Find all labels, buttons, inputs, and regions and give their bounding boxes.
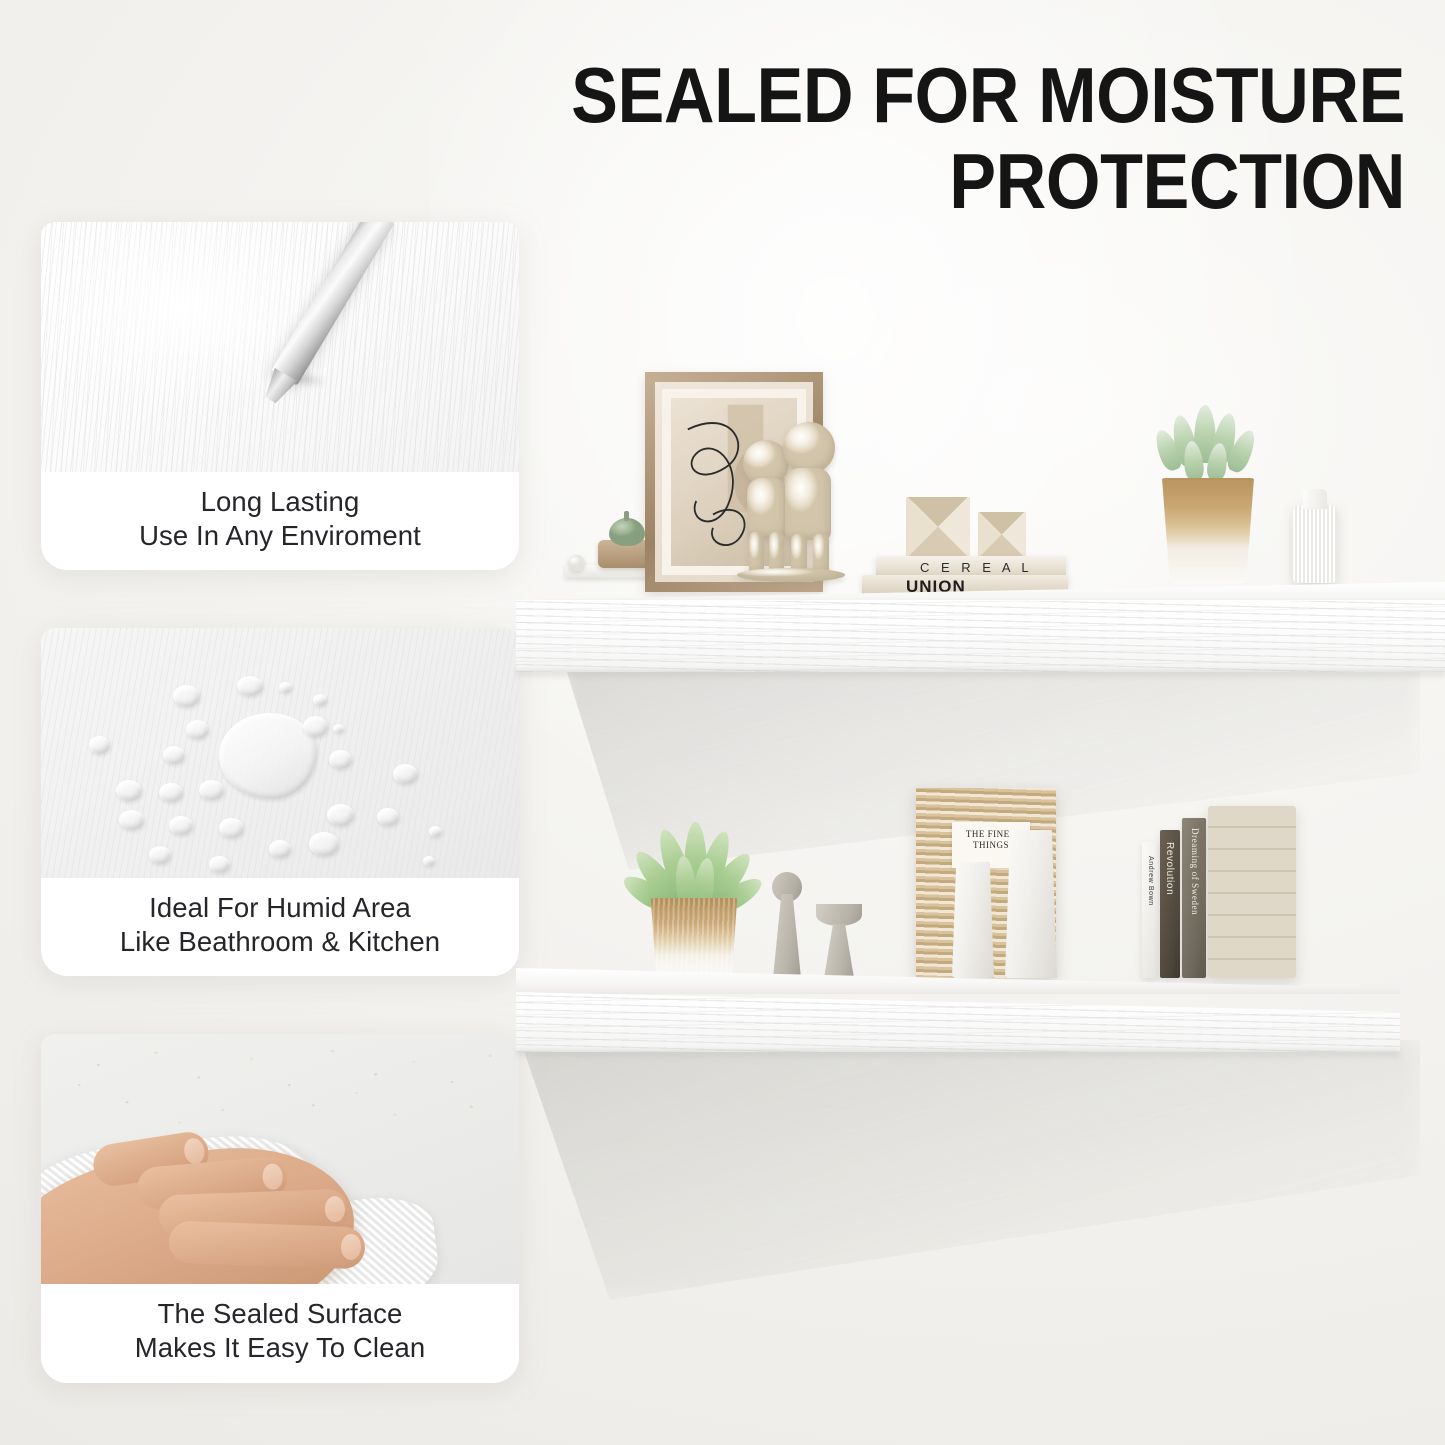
caption-line-2: Like Beathroom & Kitchen [51, 925, 509, 959]
textured-gold-planter [648, 898, 740, 978]
gold-white-planter [1158, 478, 1258, 584]
book-cereal-label: C E R E A L [920, 560, 1033, 575]
feature-card-easy-clean: The Sealed Surface Makes It Easy To Clea… [41, 1034, 519, 1382]
small-object [568, 555, 585, 571]
feature-card-long-lasting: Long Lasting Use In Any Enviroment [41, 222, 519, 570]
succulent-plant [1152, 395, 1262, 487]
figurine-head [783, 422, 835, 474]
book-author-label: Andrew Bown [1147, 856, 1154, 906]
book-revolution-label: Revolution [1164, 842, 1175, 895]
headline-line-2: PROTECTION [438, 144, 1406, 220]
upper-shelf [516, 582, 1445, 678]
book-spine-revolution: Revolution [1160, 830, 1180, 978]
feature-card-list: Long Lasting Use In Any Enviroment [41, 222, 519, 1441]
holder-body [773, 894, 801, 978]
feature-caption: The Sealed Surface Makes It Easy To Clea… [41, 1284, 519, 1382]
book-spine-white: Andrew Bown [1142, 842, 1158, 978]
short-candle-holder [816, 904, 862, 978]
hand-wiping-crumbs-photo [41, 1034, 519, 1284]
cube-facets [978, 512, 1026, 557]
geometric-cube [978, 512, 1026, 557]
figurine-body [785, 468, 831, 540]
small-cylinder-vase [952, 862, 994, 978]
cube-facets [906, 497, 970, 557]
shelf-top-surface [516, 968, 1400, 994]
feature-caption: Ideal For Humid Area Like Beathroom & Ki… [41, 878, 519, 976]
tall-candle-holder [770, 872, 804, 978]
caption-line-2: Use In Any Enviroment [51, 519, 509, 553]
book-spine-dreaming: Dreaming of Sweden [1182, 818, 1206, 978]
book-thick-beige [1208, 806, 1296, 978]
gourd-stem [624, 511, 629, 521]
book-cereal: C E R E A L [876, 556, 1066, 577]
page-title: SEALED FOR MOISTURE PROTECTION [438, 58, 1406, 219]
shelf-underside [516, 670, 1445, 680]
shelf-front-face [516, 600, 1445, 672]
geometric-cube [906, 497, 970, 557]
green-gourd [609, 518, 645, 546]
finger [168, 1221, 365, 1270]
headline-line-1: SEALED FOR MOISTURE [571, 51, 1405, 139]
caption-line-1: The Sealed Surface [51, 1297, 509, 1331]
screwdriver-scratch-test-photo [41, 222, 519, 472]
caption-line-1: Long Lasting [51, 485, 509, 519]
figurine-body [747, 478, 787, 538]
figurine-base [737, 568, 845, 582]
pearl-couple-figurine [735, 418, 847, 580]
lower-shelf [516, 968, 1400, 1064]
tall-cylinder-vase [1005, 830, 1057, 978]
shelf-underside [516, 1050, 1400, 1060]
water-droplets-beading-photo [41, 628, 519, 878]
caption-line-2: Makes It Easy To Clean [51, 1331, 509, 1365]
book-dreaming-label: Dreaming of Sweden [1190, 828, 1200, 915]
ribbed-bottle-vase [1293, 505, 1337, 583]
holder-bowl [816, 904, 862, 926]
feature-caption: Long Lasting Use In Any Enviroment [41, 472, 519, 570]
bottle-neck [1303, 489, 1327, 509]
feature-card-humid-area: Ideal For Humid Area Like Beathroom & Ki… [41, 628, 519, 976]
caption-line-1: Ideal For Humid Area [51, 891, 509, 925]
